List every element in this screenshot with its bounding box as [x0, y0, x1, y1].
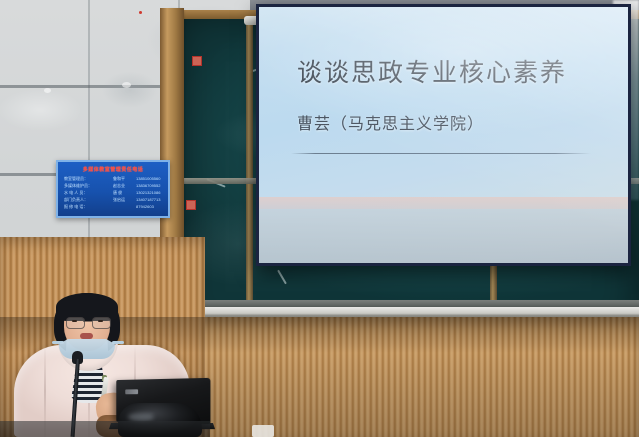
plaque-label: 教室管理员：: [64, 175, 110, 182]
glasses-lens: [66, 317, 85, 329]
eye: [98, 320, 103, 322]
board-sticker: [186, 200, 196, 210]
board-sticker: [192, 56, 202, 66]
glasses-icon: [66, 317, 109, 327]
projection-screen: 谈谈思政专业核心素养 曹芸（马克思主义学院）: [256, 4, 631, 266]
slide-divider: [291, 153, 591, 154]
slide-title: 谈谈思政专业核心素养: [297, 53, 567, 89]
face-mask: [59, 339, 115, 359]
plaque-label: 部门负责人：: [64, 196, 110, 203]
plaque-label: 报 修 电 话：: [64, 203, 110, 210]
eye: [72, 320, 77, 322]
laptop-logo: [125, 389, 138, 394]
slide-subtitle: 曹芸（马克思主义学院）: [297, 110, 484, 134]
plaque-row: 水 电 人 员： 唐 俊 13021321086: [64, 189, 162, 196]
screen-surface: 谈谈思政专业核心素养 曹芸（马克思主义学院）: [259, 7, 628, 263]
plaque-label: 水 电 人 员：: [64, 189, 110, 196]
wall-speck: [44, 88, 51, 93]
plaque-phone: 13407187713: [136, 196, 162, 203]
plaque-name: 赵志业: [113, 182, 133, 189]
plaque-phone: 87942603: [136, 203, 162, 210]
plaque-row: 报 修 电 话： 87942603: [64, 203, 162, 210]
lecture-hall-photo: 谈谈思政专业核心素养 曹芸（马克思主义学院） 多媒体教室管理责任电话 教室管理员…: [0, 0, 639, 437]
plaque-heading: 多媒体教室管理责任电话: [64, 166, 162, 173]
bag-highlight: [128, 413, 154, 421]
plaque-phone: 13836709552: [136, 182, 162, 189]
plaque-name: 唐 俊: [113, 189, 133, 196]
plaque-name: [113, 203, 133, 210]
chalkboard-mullion: [246, 14, 253, 339]
wall-speck: [122, 82, 131, 88]
classroom-info-plaque: 多媒体教室管理责任电话 教室管理员： 鲁和平 13851005560 多媒体维护…: [56, 160, 170, 218]
plaque-row: 部门负责人： 张启运 13407187713: [64, 196, 162, 203]
plaque-row: 教室管理员： 鲁和平 13851005560: [64, 175, 162, 182]
plaque-label: 多媒体维护员：: [64, 182, 110, 189]
laptop-logo-dot: [139, 11, 142, 14]
plaque-name: 鲁和平: [113, 175, 133, 182]
slide-content: 谈谈思政专业核心素养 曹芸（马克思主义学院）: [259, 7, 628, 263]
mouth: [80, 333, 93, 339]
desk-paper: [252, 425, 274, 437]
glasses-lens: [92, 317, 111, 329]
plaque-name: 张启运: [113, 196, 133, 203]
desk-front-edge: [0, 421, 210, 437]
plaque-phone: 13851005560: [136, 175, 162, 182]
glasses-bridge: [83, 321, 92, 322]
plaque-phone: 13021321086: [136, 189, 162, 196]
plaque-row: 多媒体维护员： 赵志业 13836709552: [64, 182, 162, 189]
